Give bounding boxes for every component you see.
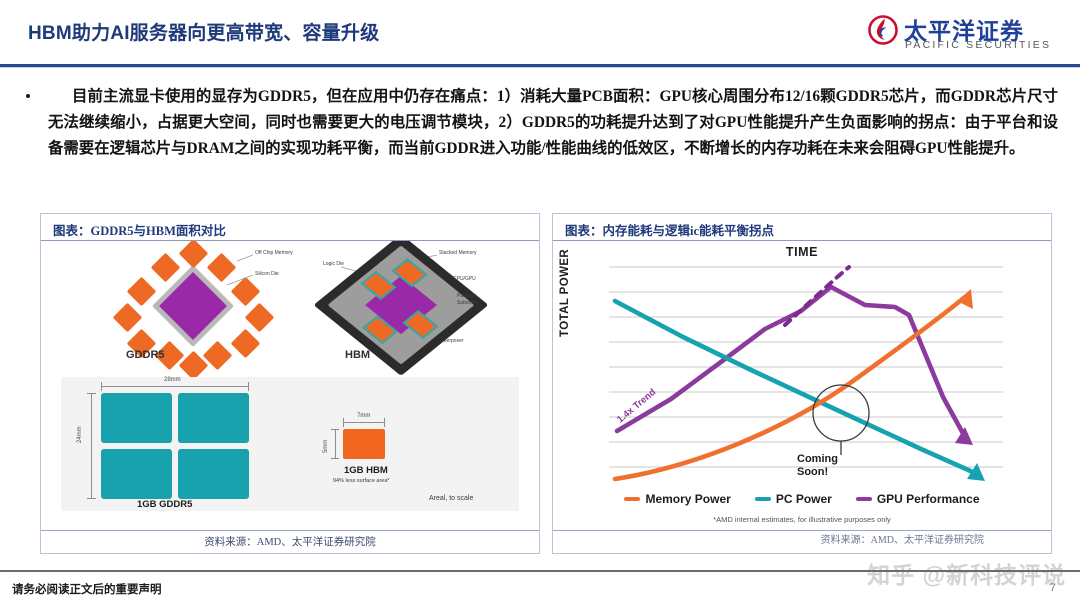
dim-tick [331,429,339,430]
panel-left-source: 资料来源：AMD、太平洋证券研究院 [41,534,539,549]
legend-swatch-gpu-performance [856,497,872,501]
dim-tick [101,382,102,391]
annotation-coming-soon: Coming Soon! [797,453,838,479]
legend-item-gpu-performance: GPU Performance [856,492,980,506]
panel-left-title: 图表：GDDR5与HBM面积对比 [53,220,226,239]
chart-plot-area [553,241,1051,530]
callout-cpu-gpu: CPU/GPU [453,276,476,283]
trend-dashed-line [785,267,849,325]
off-chip-memory-shape [207,253,237,283]
gddr5-height-label: 24mm [77,426,83,443]
panel-right-body: TIME TOTAL POWER PERFORMANCE [553,241,1051,530]
callout-interposer: Interposer [441,338,464,345]
legend-item-pc-power: PC Power [755,492,832,506]
dim-tick [87,393,96,394]
gddr5-height-dimension-line [91,393,92,499]
area-comparison-figure: 28mm 24mm 1GB GDDR5 7mm 5mm 1GB HBM 94% … [61,377,519,511]
off-chip-memory-shape [151,253,181,283]
hbm-surface-area-note: 94% less surface area* [333,478,390,484]
series-pc-power [615,301,975,473]
legend-label-memory-power: Memory Power [645,492,730,506]
gddr5-area-label: 1GB GDDR5 [137,499,192,510]
slide-header: HBM助力AI服务器向更高带宽、容量升级 太平洋证券 PACIFIC SECUR… [0,0,1080,64]
hbm-diagram-label: HBM [345,349,370,361]
legend-swatch-memory-power [624,497,640,501]
callout-silicon-die: Silicon Die [255,271,279,278]
hbm-area-label: 1GB HBM [344,465,388,476]
company-logo: 太平洋证券 PACIFIC SECURITIES [868,12,1058,56]
callout-logic-die: Logic Die [323,261,344,268]
legend-item-memory-power: Memory Power [624,492,730,506]
footer-disclaimer: 请务必阅读正文后的重要声明 [12,581,162,597]
header-divider-thin [0,67,1080,68]
callout-stacked-memory: Stacked Memory [439,250,477,257]
gddr5-width-label: 28mm [164,377,181,383]
legend-label-pc-power: PC Power [776,492,832,506]
dim-tick [87,498,96,499]
panel-power-performance-chart: 图表：内存能耗与逻辑ic能耗平衡拐点 TIME TOTAL POWER PERF… [552,213,1052,554]
dim-tick [384,418,385,427]
panel-left-body: GDDR5 Off Chip Memory Silicon Die [41,241,539,530]
off-chip-memory-shape [231,329,261,359]
legend-label-gpu-performance: GPU Performance [877,492,980,506]
gddr5-square [101,449,172,499]
panel-left-source-divider [41,530,539,531]
areal-scale-note: Areal, to scale [429,495,473,502]
off-chip-memory-shape [245,303,275,333]
off-chip-memory-shape [179,241,209,268]
hbm-diagram [341,247,461,363]
chart-footnote: *AMD internal estimates, for illustrativ… [553,515,1051,524]
hbm-width-dimension-line [343,422,385,423]
power-performance-chart: TIME TOTAL POWER PERFORMANCE [553,241,1051,530]
hbm-width-label: 7mm [357,413,370,419]
chart-legend: Memory Power PC Power GPU Performance [581,492,1023,506]
slide: HBM助力AI服务器向更高带宽、容量升级 太平洋证券 PACIFIC SECUR… [0,0,1080,607]
hbm-height-label: 5mm [323,440,329,453]
chip-layout-diagram: GDDR5 Off Chip Memory Silicon Die [41,245,539,373]
panel-right-source-text: 资料来源：AMD、太平洋证券研究院 [821,531,984,546]
legend-swatch-pc-power [755,497,771,501]
bullet-dot-icon [26,94,30,98]
body-paragraph: 目前主流显卡使用的显存为GDDR5，但在应用中仍存在痛点：1）消耗大量PCB面积… [48,84,1058,162]
gddr5-square [101,393,172,443]
off-chip-memory-shape [231,277,261,307]
body-bullet: 目前主流显卡使用的显存为GDDR5，但在应用中仍存在痛点：1）消耗大量PCB面积… [26,84,1058,162]
dim-tick [343,418,344,427]
panel-left-header: 图表：GDDR5与HBM面积对比 [41,214,539,241]
panel-gddr5-hbm-area: 图表：GDDR5与HBM面积对比 [40,213,540,554]
series-gpu-performance-arrowhead [955,427,973,445]
logo-text-en: PACIFIC SECURITIES [905,39,1051,51]
pacific-securities-mark-icon [868,15,898,45]
gddr5-square [178,449,249,499]
dim-tick [248,382,249,391]
gddr5-diagram [119,249,279,361]
dim-tick [331,458,339,459]
off-chip-memory-shape [113,303,143,333]
series-gpu-performance [617,287,965,437]
callout-package-substrate: Package Substrate [457,293,478,306]
gddr5-diagram-label: GDDR5 [126,349,165,361]
gddr5-width-dimension-line [101,386,249,387]
off-chip-memory-shape [127,277,157,307]
page-title: HBM助力AI服务器向更高带宽、容量升级 [28,18,379,45]
gddr5-area-squares [101,393,249,499]
callout-off-chip-memory: Off Chip Memory [255,250,293,257]
gddr5-square [178,393,249,443]
watermark: 知乎 @新科技评说 [867,556,1066,590]
hbm-height-dimension-line [335,429,336,459]
panel-right-header: 图表：内存能耗与逻辑ic能耗平衡拐点 [553,214,1051,241]
hbm-area-square [343,429,385,459]
package-substrate-shape [328,246,475,365]
panel-right-title: 图表：内存能耗与逻辑ic能耗平衡拐点 [565,220,774,239]
